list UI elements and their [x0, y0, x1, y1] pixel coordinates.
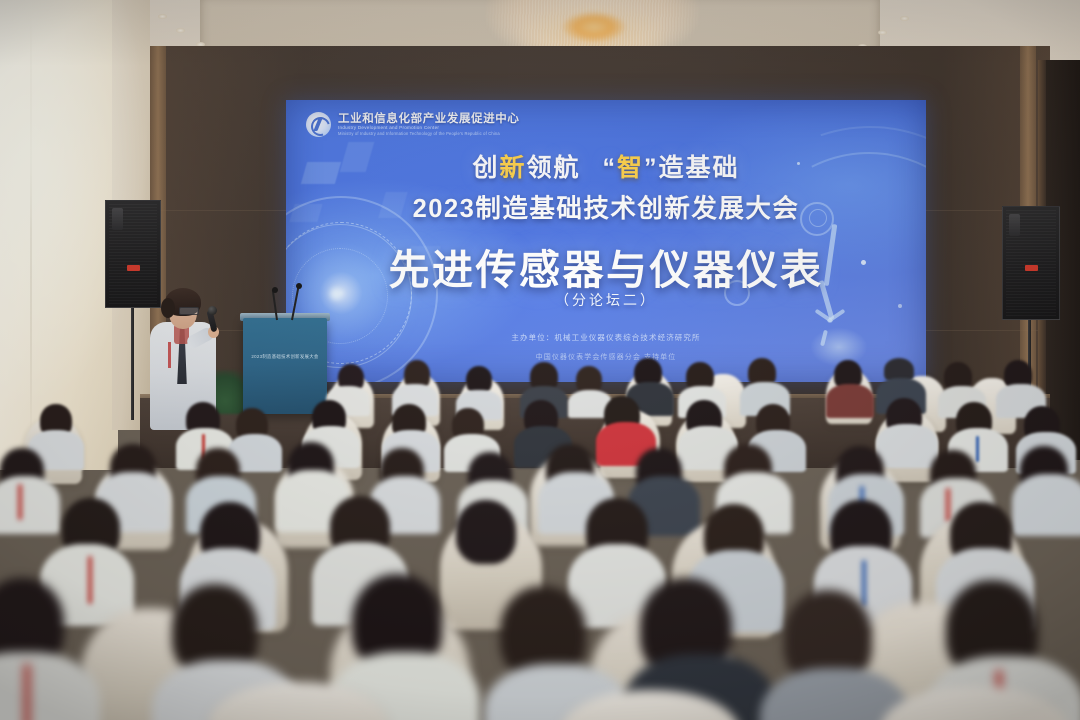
- banner-slogan: 创新领航“智”造基础: [286, 148, 926, 184]
- jbl-logo-icon: [127, 265, 140, 271]
- slogan-accent-2: 智: [617, 154, 644, 182]
- slogan-part-3: 造基础: [659, 154, 740, 182]
- forum-subtitle: （分论坛二）: [286, 290, 926, 310]
- slogan-part-1: 创: [472, 154, 499, 182]
- lanyard-blue: [976, 436, 979, 462]
- downlight-icon: [878, 30, 887, 35]
- slogan-quote-open: “: [603, 154, 618, 182]
- jbl-logo-icon: [1025, 265, 1038, 271]
- slogan-quote-close: ”: [644, 154, 659, 182]
- microphone-head-icon: [296, 283, 302, 289]
- conference-photo-scene: 工业和信息化部产业发展促进中心 Industry Development and…: [0, 0, 1080, 720]
- audience-area: [0, 352, 1080, 720]
- glasses-icon: [179, 307, 199, 315]
- chandelier-core-glow: [563, 12, 625, 42]
- presenter-hair-bun: [161, 298, 175, 318]
- slogan-accent-1: 新: [499, 154, 526, 182]
- downlight-icon: [900, 16, 909, 21]
- attendee-shirt: [0, 476, 60, 534]
- lanyard-red: [88, 556, 92, 604]
- microphone-head-icon: [208, 306, 217, 315]
- lanyard-red: [18, 484, 22, 520]
- attendee-shirt: [826, 384, 874, 418]
- forum-title: 先进传感器与仪器仪表: [286, 236, 926, 296]
- host-organization-line: 主办单位：机械工业仪器仪表综合技术经济研究所: [286, 332, 926, 343]
- lanyard-red: [24, 664, 30, 720]
- attendee-shirt: [1012, 474, 1080, 536]
- organizer-logo: 工业和信息化部产业发展促进中心 Industry Development and…: [306, 112, 520, 137]
- organizer-name-cn: 工业和信息化部产业发展促进中心: [338, 113, 520, 125]
- gear-emblem-icon: [306, 112, 331, 137]
- slogan-part-2: 领航: [526, 154, 580, 182]
- conference-title: 2023制造基础技术创新发展大会: [286, 188, 926, 225]
- left-pa-speaker: [105, 200, 161, 308]
- speaker-port: [112, 208, 123, 230]
- lanyard-blue: [862, 560, 866, 606]
- lanyard-red: [946, 488, 950, 522]
- attendee-shirt: [876, 424, 938, 468]
- downlight-icon: [158, 14, 167, 19]
- led-banner-screen: 工业和信息化部产业发展促进中心 Industry Development and…: [286, 100, 926, 382]
- downlight-icon: [176, 28, 185, 33]
- right-pa-speaker: [1002, 206, 1060, 320]
- speaker-port: [1009, 214, 1020, 236]
- microphone-head-icon: [272, 287, 278, 293]
- organizer-name-en-line2: Ministry of Industry and Information Tec…: [338, 132, 520, 136]
